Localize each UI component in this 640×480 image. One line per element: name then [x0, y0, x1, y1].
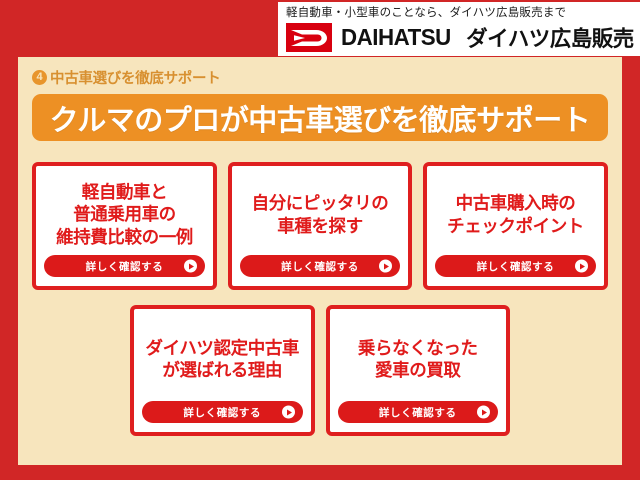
card-cta-button[interactable]: 詳しく確認する	[240, 255, 401, 277]
card-cta-label: 詳しく確認する	[86, 259, 164, 274]
card-title: 乗らなくなった 愛車の買取	[338, 317, 499, 401]
card-title: 中古車購入時の チェックポイント	[435, 174, 596, 255]
play-arrow-icon	[184, 260, 197, 273]
card-cta-label: 詳しく確認する	[477, 259, 555, 274]
card-find-your-model[interactable]: 自分にピッタリの 車種を探す 詳しく確認する	[228, 162, 413, 290]
card-row-bottom: ダイハツ認定中古車 が選ばれる理由 詳しく確認する 乗らなくなった 愛車の買取 …	[32, 305, 608, 436]
brand-logo-lockup: DAIHATSU ダイハツ広島販売	[278, 20, 640, 54]
section-eyebrow-label: 中古車選びを徹底サポート	[50, 67, 220, 88]
card-maintenance-cost-comparison[interactable]: 軽自動車と 普通乗用車の 維持費比較の一例 詳しく確認する	[32, 162, 217, 290]
brand-header: 軽自動車・小型車のことなら、ダイハツ広島販売まで DAIHATSU ダイハツ広島…	[278, 2, 640, 56]
card-title-line: チェックポイント	[447, 215, 584, 237]
card-cta-label: 詳しく確認する	[281, 259, 359, 274]
play-arrow-icon	[575, 260, 588, 273]
section-title: クルマのプロが中古車選びを徹底サポート	[50, 97, 591, 139]
card-car-buyback[interactable]: 乗らなくなった 愛車の買取 詳しく確認する	[326, 305, 511, 436]
card-title-line: 中古車購入時の	[456, 192, 576, 214]
card-cta-label: 詳しく確認する	[183, 405, 261, 420]
play-arrow-icon	[477, 406, 490, 419]
card-title-line: 車種を探す	[277, 215, 363, 237]
card-certified-used-car-reasons[interactable]: ダイハツ認定中古車 が選ばれる理由 詳しく確認する	[130, 305, 315, 436]
poster-root: 軽自動車・小型車のことなら、ダイハツ広島販売まで DAIHATSU ダイハツ広島…	[0, 0, 640, 480]
brand-wordmark: DAIHATSU	[341, 24, 451, 51]
card-title-line: 自分にピッタリの	[252, 192, 389, 214]
section-title-banner: クルマのプロが中古車選びを徹底サポート	[32, 94, 608, 141]
card-title: ダイハツ認定中古車 が選ばれる理由	[142, 317, 303, 401]
card-cta-button[interactable]: 詳しく確認する	[338, 401, 499, 423]
card-title-line: が選ばれる理由	[162, 359, 282, 381]
card-title-line: 維持費比較の一例	[56, 226, 193, 248]
header-tagline: 軽自動車・小型車のことなら、ダイハツ広島販売まで	[278, 2, 640, 20]
card-title-line: 愛車の買取	[375, 359, 461, 381]
play-arrow-icon	[282, 406, 295, 419]
card-cta-button[interactable]: 詳しく確認する	[142, 401, 303, 423]
card-title-line: 乗らなくなった	[358, 337, 478, 359]
card-title-line: ダイハツ認定中古車	[145, 337, 299, 359]
dealer-name: ダイハツ広島販売	[466, 22, 634, 53]
daihatsu-d-emblem-icon	[286, 23, 332, 52]
card-title-line: 軽自動車と	[82, 181, 168, 203]
card-cta-button[interactable]: 詳しく確認する	[44, 255, 205, 277]
section-eyebrow: 4 中古車選びを徹底サポート	[32, 67, 220, 88]
card-title-line: 普通乗用車の	[73, 203, 176, 225]
card-title: 自分にピッタリの 車種を探す	[240, 174, 401, 255]
card-cta-button[interactable]: 詳しく確認する	[435, 255, 596, 277]
content-panel: 4 中古車選びを徹底サポート クルマのプロが中古車選びを徹底サポート 軽自動車と…	[18, 57, 622, 465]
section-number-badge: 4	[32, 70, 47, 85]
card-used-car-checkpoints[interactable]: 中古車購入時の チェックポイント 詳しく確認する	[423, 162, 608, 290]
card-row-top: 軽自動車と 普通乗用車の 維持費比較の一例 詳しく確認する 自分にピッタリの 車…	[32, 162, 608, 290]
card-cta-label: 詳しく確認する	[379, 405, 457, 420]
play-arrow-icon	[379, 260, 392, 273]
card-title: 軽自動車と 普通乗用車の 維持費比較の一例	[44, 174, 205, 255]
